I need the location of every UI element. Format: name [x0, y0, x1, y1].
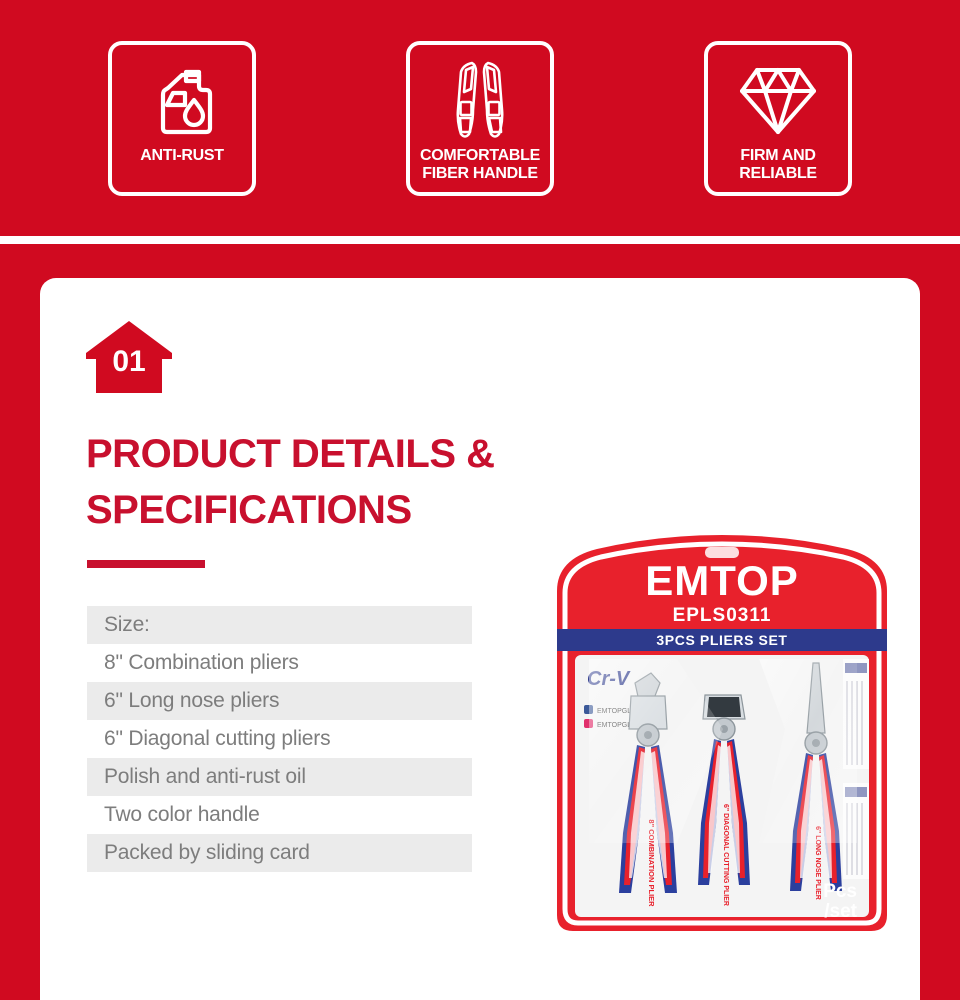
- feature-badge-row: ANTI-RUST COMFORTABLE FIBER HANDLE: [0, 0, 960, 236]
- tool-label: 6" DIAGONAL CUTTING PLIER: [722, 804, 729, 906]
- feature-label-line: ANTI-RUST: [140, 147, 224, 165]
- section-number-text: 01: [86, 345, 172, 379]
- header-body-divider: [0, 236, 960, 244]
- feature-label-line: FIRM AND: [739, 147, 817, 165]
- feature-card-anti-rust: ANTI-RUST: [108, 41, 256, 196]
- content-card: 01 PRODUCT DETAILS & SPECIFICATIONS Size…: [40, 278, 920, 1000]
- quantity-badge-line-1: Pcs: [823, 881, 857, 902]
- spec-row: 8" Combination pliers: [87, 644, 472, 682]
- spec-row: Packed by sliding card: [87, 834, 472, 872]
- feature-label-line: RELIABLE: [739, 165, 817, 183]
- quantity-badge-line-2: /set: [824, 901, 857, 922]
- page-title: PRODUCT DETAILS & SPECIFICATIONS: [86, 426, 606, 538]
- spec-row: Polish and anti-rust oil: [87, 758, 472, 796]
- feature-label-anti-rust: ANTI-RUST: [140, 147, 224, 165]
- header-banner: ANTI-RUST COMFORTABLE FIBER HANDLE: [0, 0, 960, 236]
- feature-card-firm-and-reliable: FIRM AND RELIABLE: [704, 41, 852, 196]
- product-set-label: 3PCS PLIERS SET: [656, 632, 787, 648]
- feature-label-comfortable-fiber-handle: COMFORTABLE FIBER HANDLE: [420, 147, 540, 183]
- product-package-image: EMTOP EPLS0311 3PCS PLIERS SET Cr-V: [527, 533, 917, 943]
- diamond-icon: [738, 59, 818, 141]
- specification-list: Size: 8" Combination pliers 6" Long nose…: [87, 606, 472, 872]
- spec-row: Size:: [87, 606, 472, 644]
- feature-label-firm-and-reliable: FIRM AND RELIABLE: [739, 147, 817, 183]
- spec-row: 6" Diagonal cutting pliers: [87, 720, 472, 758]
- oil-can-icon: [146, 59, 218, 141]
- spec-row: Two color handle: [87, 796, 472, 834]
- product-brand-text: EMTOP: [645, 557, 799, 604]
- quantity-badge: Pcs /set: [823, 881, 857, 922]
- section-number-badge: 01: [86, 321, 172, 393]
- product-set-band: 3PCS PLIERS SET: [557, 629, 887, 651]
- page-title-line-2: SPECIFICATIONS: [86, 482, 606, 538]
- spec-row: 6" Long nose pliers: [87, 682, 472, 720]
- feature-card-comfortable-fiber-handle: COMFORTABLE FIBER HANDLE: [406, 41, 554, 196]
- product-model-code: EPLS0311: [673, 605, 772, 626]
- page-title-line-1: PRODUCT DETAILS &: [86, 426, 606, 482]
- pliers-handles-icon: [442, 59, 518, 141]
- feature-label-line: FIBER HANDLE: [420, 165, 540, 183]
- feature-label-line: COMFORTABLE: [420, 147, 540, 165]
- title-underline-rule: [87, 560, 205, 568]
